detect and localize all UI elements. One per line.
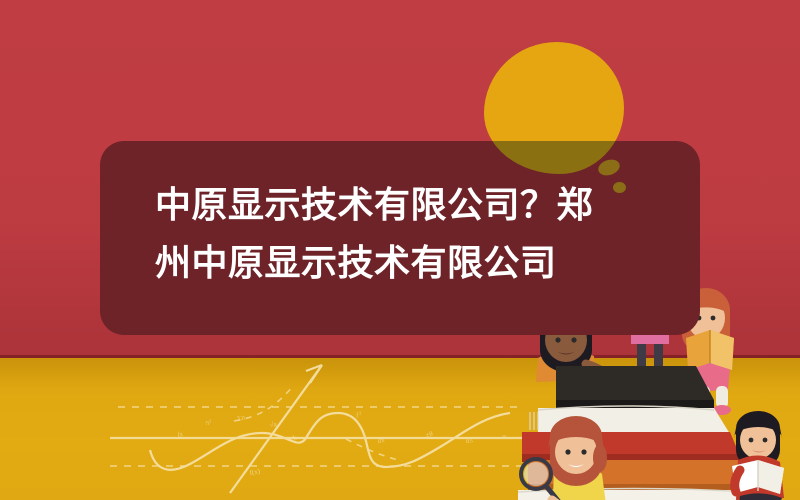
math-curve-doodle: ∫x π² Σn √a ≠b f(x) ƒ² dx ±θ α≤ ∞ bbox=[110, 355, 530, 500]
boy-red-sweater-right bbox=[732, 411, 795, 500]
svg-text:π²: π² bbox=[205, 418, 212, 427]
girl-yellow-magnifier bbox=[502, 416, 608, 500]
book-dark-top bbox=[556, 366, 714, 400]
page-title: 中原显示技术有限公司？郑州中原显示技术有限公司 bbox=[155, 176, 625, 292]
svg-text:≠b: ≠b bbox=[289, 434, 298, 443]
svg-text:√a: √a bbox=[269, 420, 278, 429]
svg-text:α≤: α≤ bbox=[465, 436, 474, 445]
svg-text:±θ: ±θ bbox=[425, 430, 434, 439]
banner-image: ∫x π² Σn √a ≠b f(x) ƒ² dx ±θ α≤ ∞ bbox=[0, 0, 800, 500]
svg-text:f(x): f(x) bbox=[249, 467, 261, 477]
svg-text:ƒ²: ƒ² bbox=[355, 410, 362, 419]
blob-dot-overlap-1 bbox=[596, 157, 622, 178]
svg-text:Σn: Σn bbox=[237, 413, 247, 423]
